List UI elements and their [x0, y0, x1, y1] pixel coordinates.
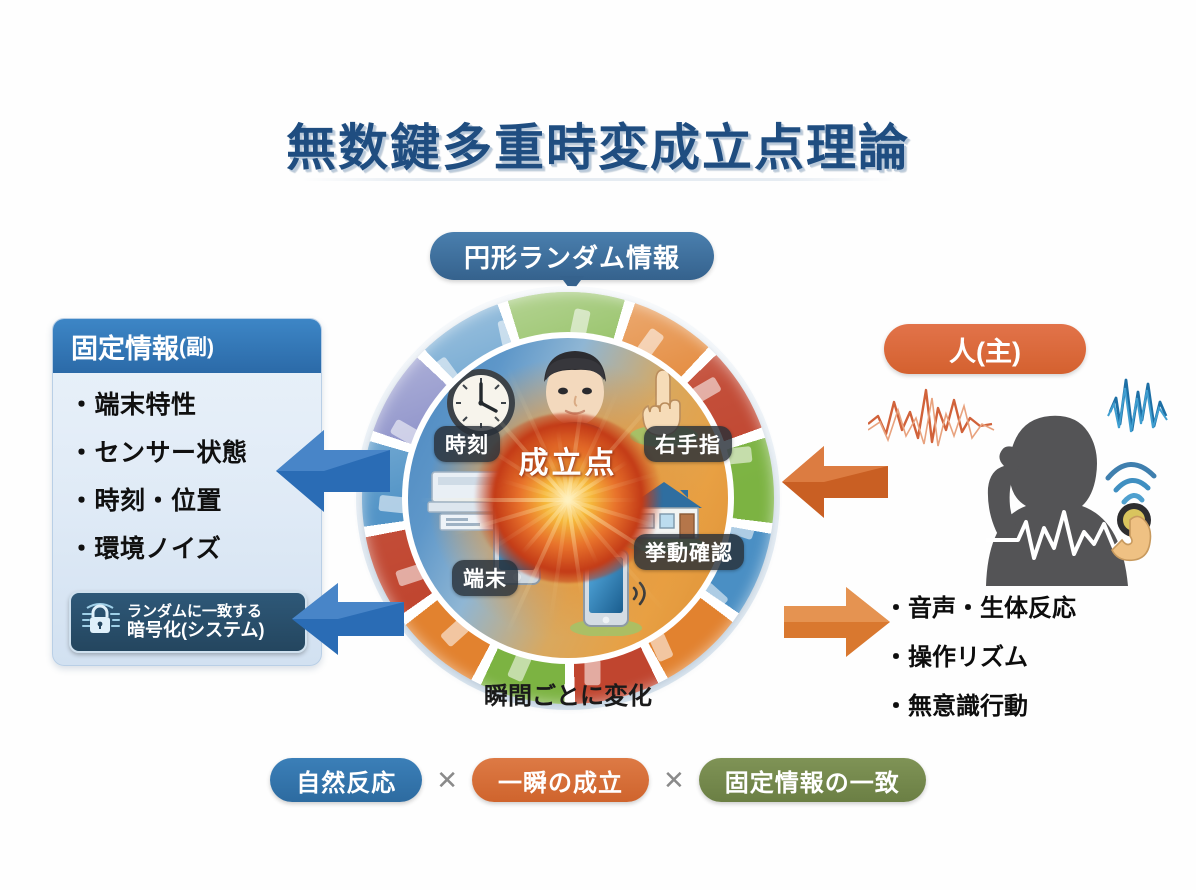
wheel-node-label-device: 端末 — [452, 560, 518, 596]
fingertip-touch-icon — [1112, 503, 1151, 560]
wheel-inner-disc — [408, 338, 728, 658]
left-panel-header-title: 固定情報 — [71, 327, 179, 366]
list-item: ・操作リズム — [884, 637, 1144, 672]
biosignal-waveform — [868, 390, 992, 442]
page-title: 無数鍵多重時変成立点理論 — [0, 108, 1196, 180]
list-item: ・音声・生体反応 — [884, 588, 1144, 623]
person-graphic — [868, 372, 1168, 592]
wifi-waves — [1108, 464, 1154, 502]
lock-badge-line2: 暗号化(システム) — [127, 620, 264, 641]
wheel-node-label-time: 時刻 — [434, 426, 500, 462]
arrow-wheel-to-person — [782, 582, 894, 662]
encryption-lock-badge: ランダムに一致する 暗号化(システム) — [69, 591, 307, 653]
list-item: ・無意識行動 — [884, 686, 1144, 721]
person-silhouette — [986, 416, 1140, 586]
lock-icon — [77, 598, 123, 647]
list-item: ・端末特性 — [69, 385, 307, 421]
formula-pill-fixed-info-match: 固定情報の一致 — [699, 758, 926, 802]
top-pill-circular-random-info: 円形ランダム情報 — [430, 232, 714, 280]
right-pill-label: 人(主) — [949, 330, 1021, 369]
bottom-formula-row: 自然反応 ✕ 一瞬の成立 ✕ 固定情報の一致 — [0, 758, 1196, 802]
title-divider — [300, 178, 896, 181]
list-item: ・環境ノイズ — [69, 529, 307, 565]
right-panel-list: ・音声・生体反応 ・操作リズム ・無意識行動 — [884, 588, 1144, 735]
infographic-canvas: 無数鍵多重時変成立点理論 円形ランダム情報 固定情報(副) ・端末特性 ・センサ… — [0, 0, 1196, 890]
formula-operator: ✕ — [436, 765, 458, 796]
arrow-wheel-to-left-bottom — [288, 578, 406, 660]
formula-operator: ✕ — [663, 765, 685, 796]
wheel-node-label-behavior: 挙動確認 — [634, 534, 744, 570]
formula-pill-instant-establishment: 一瞬の成立 — [472, 758, 649, 802]
lock-badge-line1: ランダムに一致する — [127, 603, 264, 620]
burst-ray — [420, 498, 568, 502]
lock-badge-text: ランダムに一致する 暗号化(システム) — [127, 603, 264, 641]
formula-pill-natural-reaction: 自然反応 — [270, 758, 422, 802]
top-pill-label: 円形ランダム情報 — [464, 238, 680, 275]
wheel-node-label-finger: 右手指 — [644, 426, 732, 462]
left-panel-header-suffix: (副) — [179, 331, 214, 361]
right-pill-person-primary: 人(主) — [884, 324, 1086, 374]
circular-random-info-wheel: 成立点 時刻 端末 右手指 挙動確認 — [356, 286, 780, 710]
wheel-caption: 瞬間ごとに変化 — [356, 676, 780, 711]
left-panel-header: 固定情報(副) — [53, 319, 321, 373]
